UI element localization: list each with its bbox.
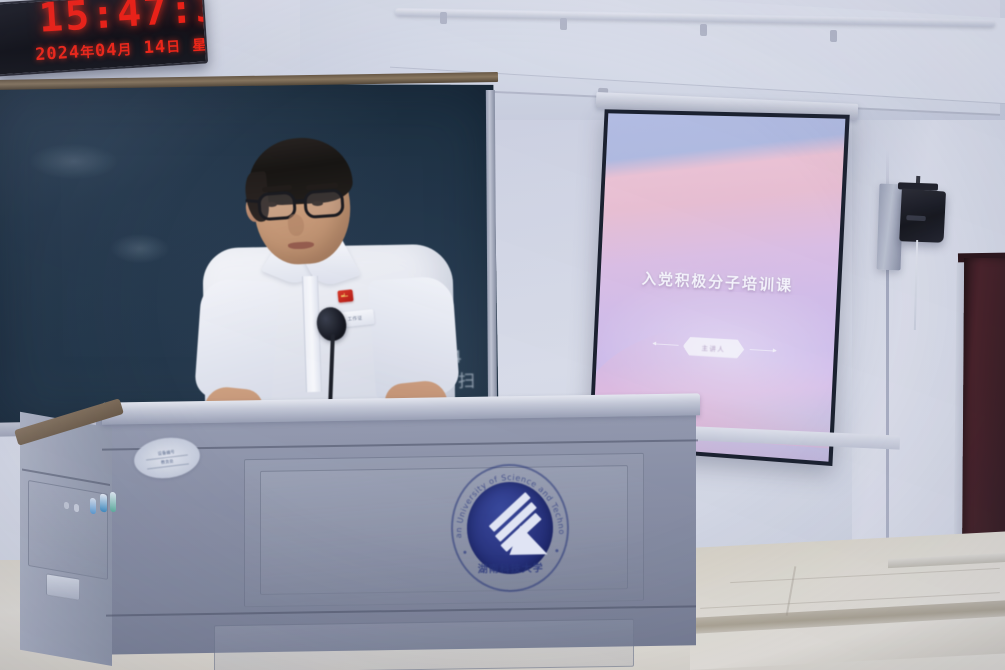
chalk-smudge [28,143,119,179]
podium-base-panel [214,619,634,670]
presenter-left-sleeve [194,277,280,402]
university-emblem: Hunan University of Science and Technolo… [450,463,570,593]
podium-indicator-light[interactable] [90,497,96,514]
chalk-smudge [110,234,170,264]
svg-text:Hunan University of Science an: Hunan University of Science and Technolo… [450,463,566,538]
led-wall-clock: 15:47:38 2024年04月 14日 星期日 [0,0,208,77]
classroom-scene: 15:47:38 2024年04月 14日 星期日 4.14 已打扫 入党积极分… [0,0,1005,670]
podium-front-panel-inset [260,465,628,595]
conduit-clip [440,12,447,24]
podium-side-panel [28,480,108,580]
podium-indicator-light[interactable] [74,504,79,513]
conduit-clip [560,18,567,30]
podium-indicator-light[interactable] [64,502,69,510]
party-emblem-pin-icon [337,289,353,303]
glasses-lens-right [303,188,345,219]
podium-indicator-light[interactable] [100,493,107,512]
presenter-right-sleeve [368,275,460,399]
wall-speaker-icon [899,188,946,242]
emblem-dot [555,549,558,552]
conduit-clip [700,24,707,36]
presenter: 工作证 [196,130,476,430]
conduit-clip [830,30,837,42]
badge-rule-right [749,349,775,352]
slide-subtitle-badge: 主讲人 [682,337,744,360]
podium-indicator-light[interactable] [110,491,116,512]
emblem-dot [463,551,466,554]
lecture-podium: 设备编号 教务处 [14,398,714,670]
emblem-english-text: Hunan University of Science and Technolo… [450,463,566,538]
badge-rule-left [653,344,678,346]
name-badge-text: 工作证 [347,315,362,323]
emblem-chinese-text: 湖南科技大学 [452,559,570,576]
